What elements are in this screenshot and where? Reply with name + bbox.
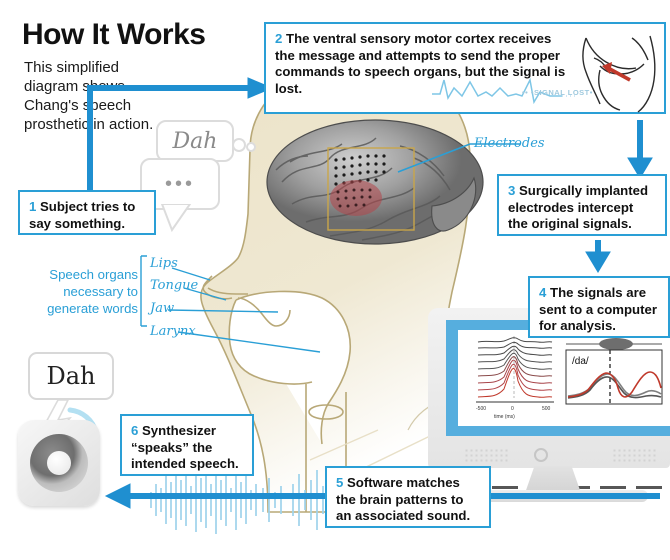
page-subtitle: This simplified diagram shows Chang's sp… bbox=[24, 58, 164, 134]
page-title: How It Works bbox=[22, 18, 205, 52]
step-text-4: The signals are sent to a computer for a… bbox=[539, 285, 657, 333]
organ-label-jaw: Jaw bbox=[150, 301, 174, 316]
step-text-3: Surgically implanted electrodes intercep… bbox=[508, 183, 648, 231]
callout-step-1[interactable]: 1 Subject tries to say something. bbox=[18, 190, 156, 235]
neural-response-chart: -500 0 500 time (ms) /da/ bbox=[458, 330, 670, 426]
phoneme-label: /da/ bbox=[572, 356, 589, 367]
callout-step-4[interactable]: 4 The signals are sent to a computer for… bbox=[528, 276, 670, 338]
electrode-grid-dots bbox=[334, 154, 385, 185]
thought-bubble-dot-small bbox=[246, 142, 256, 152]
signal-lost-label: •• •SIGNAL LOST• bbox=[522, 88, 593, 97]
speaker-device[interactable] bbox=[18, 420, 100, 506]
svg-text:-500: -500 bbox=[476, 406, 486, 412]
electrodes-label: Electrodes bbox=[474, 136, 545, 151]
speech-organs-heading: Speech organs necessary to generate word… bbox=[10, 266, 138, 317]
step-number-6: 6 bbox=[131, 423, 138, 438]
speech-bubble-tail bbox=[160, 204, 200, 232]
step-number-4: 4 bbox=[539, 285, 546, 300]
monitor-power-button[interactable] bbox=[534, 448, 548, 462]
thought-bubble-dot-large bbox=[232, 138, 246, 152]
thought-bubble-dah: Dah bbox=[156, 120, 234, 162]
svg-text:0: 0 bbox=[511, 406, 514, 412]
monitor-vent-left bbox=[464, 448, 508, 462]
step-text-6: Synthesizer “speaks” the intended speech… bbox=[131, 423, 239, 471]
step-number-5: 5 bbox=[336, 475, 343, 490]
speaker-center-dome bbox=[47, 451, 71, 475]
monitor-vent-right bbox=[612, 448, 656, 462]
monitor-plot-area: -500 0 500 time (ms) /da/ bbox=[458, 330, 670, 426]
step2-inline-graphics bbox=[264, 22, 666, 114]
step-text-1: Subject tries to say something. bbox=[29, 199, 135, 231]
step-text-5: Software matches the brain patterns to a… bbox=[336, 475, 470, 523]
callout-step-5[interactable]: 5 Software matches the brain patterns to… bbox=[325, 466, 491, 528]
step-number-1: 1 bbox=[29, 199, 36, 214]
callout-step-3[interactable]: 3 Surgically implanted electrodes interc… bbox=[497, 174, 667, 236]
svg-text:time (ms): time (ms) bbox=[494, 414, 515, 420]
svg-text:500: 500 bbox=[542, 406, 551, 412]
spoken-bubble-dah: Dah bbox=[28, 352, 114, 400]
organ-label-lips: Lips bbox=[150, 256, 178, 271]
organ-label-larynx: Larynx bbox=[150, 324, 196, 339]
organ-label-tongue: Tongue bbox=[150, 278, 198, 293]
step-number-3: 3 bbox=[508, 183, 515, 198]
callout-step-6[interactable]: 6 Synthesizer “speaks” the intended spee… bbox=[120, 414, 254, 476]
monitor-stand-base bbox=[466, 490, 648, 502]
